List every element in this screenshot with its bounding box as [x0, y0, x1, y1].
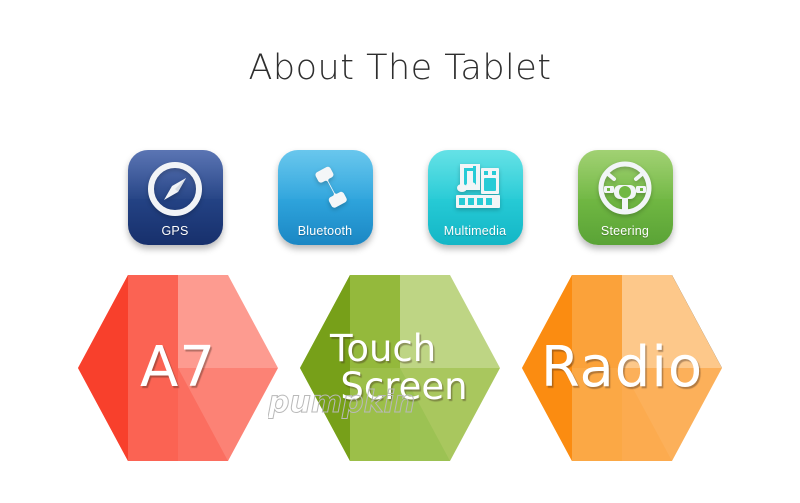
page-title: About The Tablet [0, 48, 800, 88]
steering-wheel-icon [578, 158, 673, 220]
feature-tile-label: Multimedia [428, 224, 523, 238]
phone-handset-icon [278, 158, 373, 220]
hexagon-a7[interactable]: A7 [78, 275, 278, 461]
feature-tile-row: GPS Bluetooth [0, 150, 800, 245]
feature-tile-label: Steering [578, 224, 673, 238]
hexagon-row: A7 Touch Screen [0, 275, 800, 461]
feature-tile-gps[interactable]: GPS [128, 150, 223, 245]
hexagon-touch-screen[interactable]: Touch Screen [300, 275, 500, 461]
feature-tile-bluetooth[interactable]: Bluetooth [278, 150, 373, 245]
hexagon-shape [522, 275, 722, 461]
feature-tile-steering[interactable]: Steering [578, 150, 673, 245]
feature-tile-label: Bluetooth [278, 224, 373, 238]
feature-tile-label: GPS [128, 224, 223, 238]
hexagon-shape [78, 275, 278, 461]
compass-icon [128, 158, 223, 220]
hexagon-radio[interactable]: Radio [522, 275, 722, 461]
music-film-icon [428, 158, 523, 220]
feature-tile-multimedia[interactable]: Multimedia [428, 150, 523, 245]
about-the-tablet-page: About The Tablet GPS [0, 0, 800, 503]
hexagon-shape [300, 275, 500, 461]
